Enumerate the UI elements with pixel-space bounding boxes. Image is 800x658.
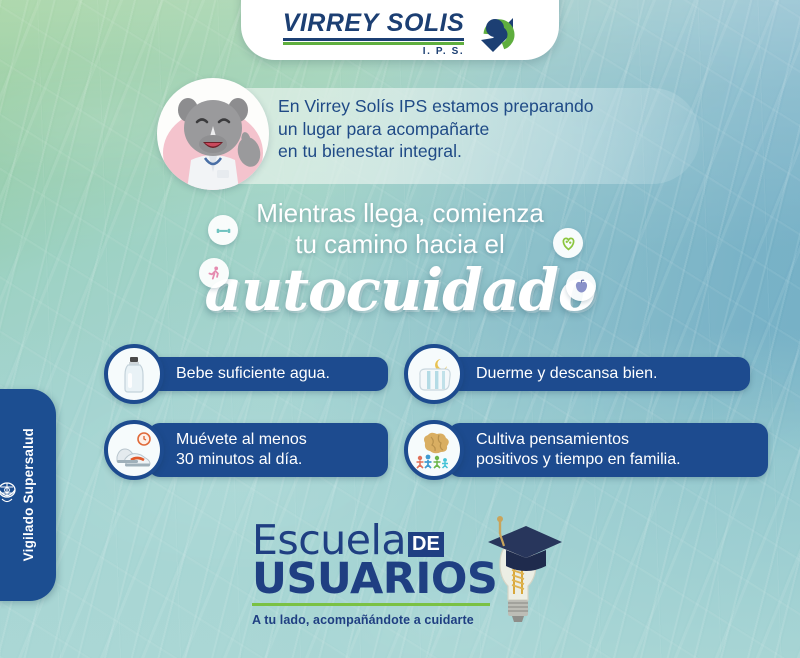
escuela-usuarios-logo: Escuela DE USUARIOS A tu lado, acompañán… [252,520,552,627]
intro-line-2: un lugar para acompañarte [278,118,678,141]
logo-rule-green [283,42,465,45]
logo-rule-navy [283,38,465,41]
tip-card-mind[interactable]: Cultiva pensamientos positivos y tiempo … [404,420,768,480]
logo-word-solis: SOLIS [387,11,465,36]
rhino-mascot-avatar [157,78,269,190]
sneakers-stopwatch-icon [104,420,164,480]
headline-line-1: Mientras llega, comienza [0,198,800,229]
headline-script-word: autocuidado [0,256,800,324]
vigilado-supersalud-tab: Vigilado Supersalud [0,389,56,601]
tip-label-sleep: Duerme y descansa bien. [448,357,750,391]
logo-word-virrey: VIRREY [283,11,379,36]
dumbbell-icon [208,215,238,245]
tip-label-mind: Cultiva pensamientos positivos y tiempo … [448,423,768,477]
logo-wordmark: VIRREY SOLIS I. P. S. [283,11,465,57]
apple-icon [566,271,596,301]
infographic-canvas: VIRREY SOLIS I. P. S. [0,0,800,658]
tip-mind-line-2: positivos y tiempo en familia. [476,450,752,470]
tip-card-move[interactable]: Muévete al menos 30 minutos al día. [104,420,388,480]
logo-underline [283,38,465,45]
intro-line-3: en tu bienestar integral. [278,140,678,163]
colombia-flag-stripe-icon [41,482,45,508]
virrey-solis-logo: VIRREY SOLIS I. P. S. [241,8,559,60]
tip-move-line-1: Muévete al menos [176,430,372,450]
tip-move-line-2: 30 minutos al día. [176,450,372,470]
logo-mark-icon [473,12,517,56]
tip-mind-line-1: Cultiva pensamientos [476,430,752,450]
tip-label-water: Bebe suficiente agua. [148,357,388,391]
lightbulb-graduation-cap-icon [470,508,566,626]
tip-label-move: Muévete al menos 30 minutos al día. [148,423,388,477]
broccoli-heart-icon [553,228,583,258]
logo-ips-label: I. P. S. [423,46,465,57]
intro-line-1: En Virrey Solís IPS estamos preparando [278,95,678,118]
vigilado-label: Vigilado Supersalud [21,428,36,561]
brain-family-icon [404,420,464,480]
running-person-icon [199,258,229,288]
water-bottle-icon [104,344,164,404]
pillow-moon-icon [404,344,464,404]
tip-card-sleep[interactable]: Duerme y descansa bien. [404,344,750,404]
script-autocuidado: autocuidado [204,256,595,324]
headline-block: Mientras llega, comienza tu camino hacia… [0,198,800,260]
colombia-coat-of-arms-icon [0,481,18,510]
tip-card-water[interactable]: Bebe suficiente agua. [104,344,388,404]
intro-message: En Virrey Solís IPS estamos preparando u… [278,95,678,163]
